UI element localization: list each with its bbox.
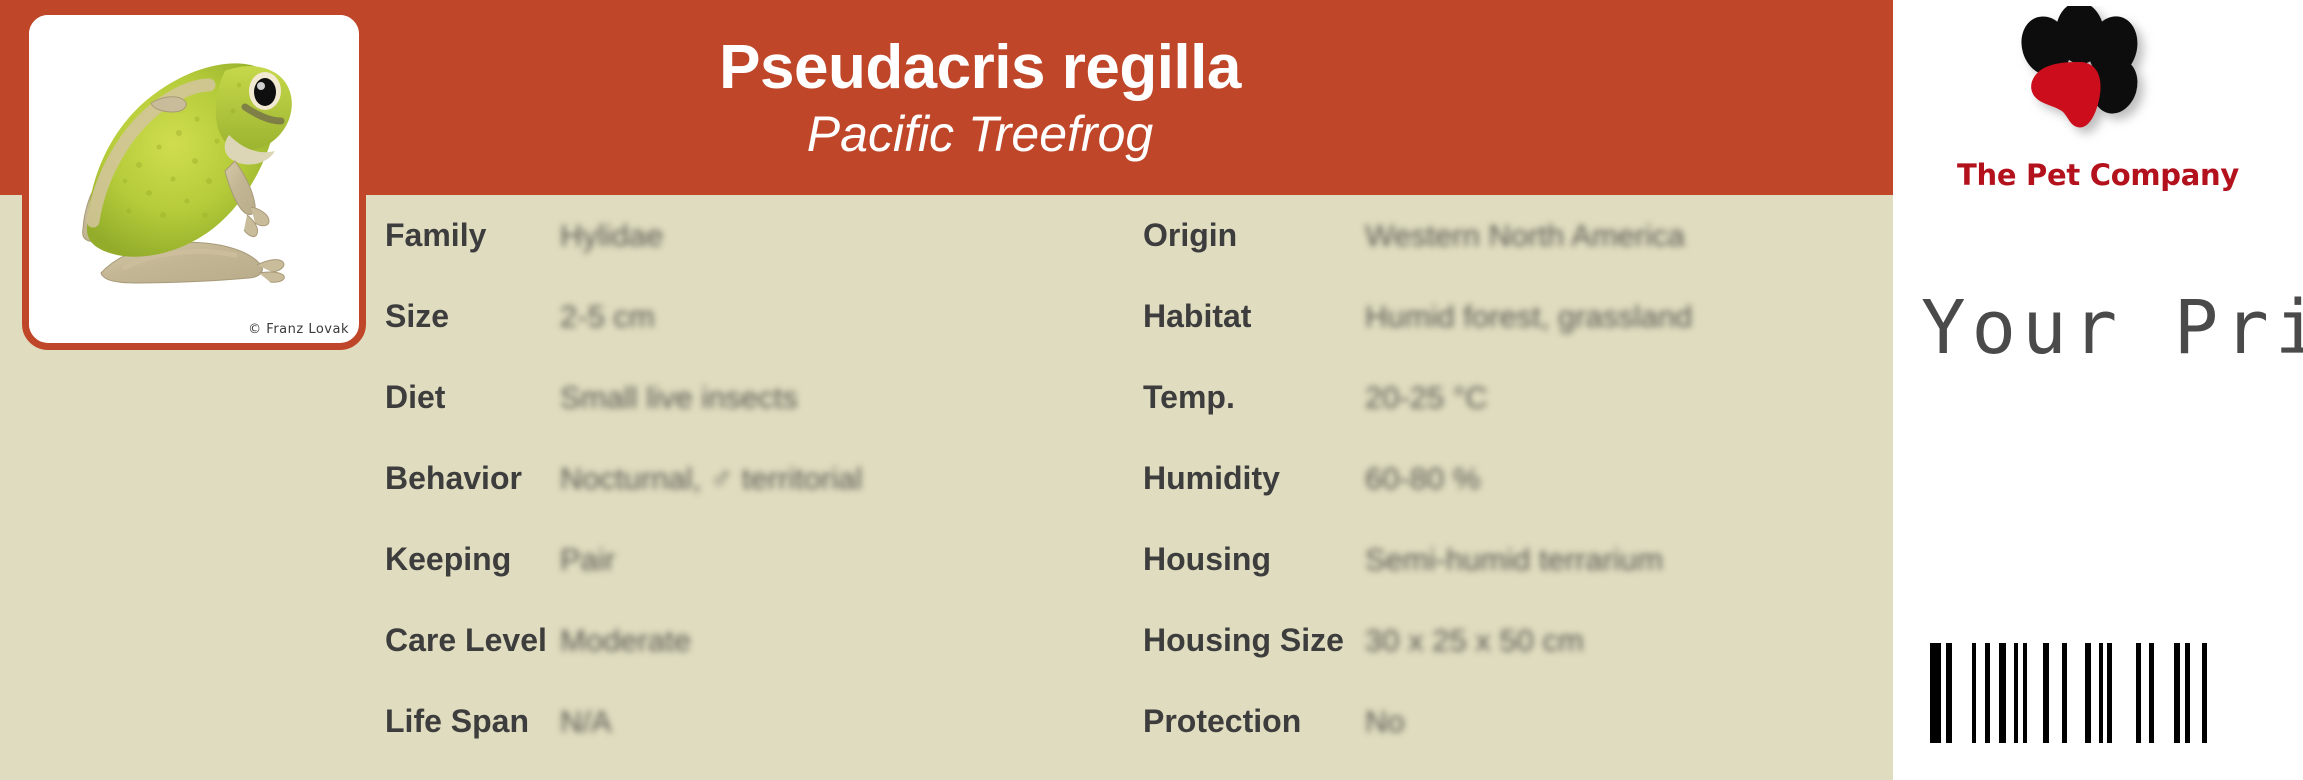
pet-shop-info-label: Pseudacris regilla Pacific Treefrog [0,0,2303,780]
spec-row: Care Level Moderate [385,600,1145,681]
spec-key: Habitat [1143,298,1365,335]
spec-row: Protection No [1143,681,1893,762]
spec-value: Semi-humid terrarium [1365,542,1663,578]
spec-key: Diet [385,379,560,416]
spec-value: N/A [560,704,612,740]
spec-key: Temp. [1143,379,1365,416]
brand-logo: The Pet Company [1893,6,2303,204]
spec-key: Life Span [385,703,560,740]
spec-column-right: Origin Western North America Habitat Hum… [1143,195,1893,780]
spec-value: Pair [560,542,615,578]
spec-value: 60-80 % [1365,461,1480,497]
spec-key: Size [385,298,560,335]
your-price-label: Your Price [1921,285,2303,371]
spec-row: Habitat Humid forest, grassland [1143,276,1893,357]
species-info-card: Pseudacris regilla Pacific Treefrog [0,0,1893,780]
spec-row: Origin Western North America [1143,195,1893,276]
spec-value: Humid forest, grassland [1365,299,1692,335]
spec-value: No [1365,704,1405,740]
spec-key: Keeping [385,541,560,578]
spec-value: Hylidae [560,218,663,254]
spec-table: Family Hylidae Size 2-5 cm Diet Small li… [0,195,1893,780]
spec-key: Family [385,217,560,254]
spec-row: Size 2-5 cm [385,276,1145,357]
spec-key: Origin [1143,217,1365,254]
spec-value: 20-25 °C [1365,380,1488,416]
spec-value: 2-5 cm [560,299,655,335]
spec-row: Behavior Nocturnal, ♂ territorial [385,438,1145,519]
price-panel: The Pet Company Your Price [1893,0,2303,780]
spec-key: Protection [1143,703,1365,740]
spec-value: Moderate [560,623,691,659]
spec-row: Diet Small live insects [385,357,1145,438]
paw-print-icon [1971,6,2225,166]
spec-key: Behavior [385,460,560,497]
spec-value: 30 x 25 x 50 cm [1365,623,1584,659]
spec-value: Western North America [1365,218,1685,254]
spec-value: Nocturnal, ♂ territorial [560,461,862,497]
spec-row: Temp. 20-25 °C [1143,357,1893,438]
spec-row: Family Hylidae [385,195,1145,276]
title-block: Pseudacris regilla Pacific Treefrog [360,6,1600,191]
spec-key: Care Level [385,622,560,659]
spec-column-left: Family Hylidae Size 2-5 cm Diet Small li… [385,195,1145,780]
brand-name: The Pet Company [1893,158,2303,192]
spec-row: Keeping Pair [385,519,1145,600]
scientific-name: Pseudacris regilla [719,35,1241,101]
spec-value: Small live insects [560,380,798,416]
spec-row: Life Span N/A [385,681,1145,762]
common-name: Pacific Treefrog [807,106,1153,162]
spec-row: Housing Semi-humid terrarium [1143,519,1893,600]
spec-key: Humidity [1143,460,1365,497]
spec-row: Humidity 60-80 % [1143,438,1893,519]
barcode [1930,643,2207,743]
spec-key: Housing [1143,541,1365,578]
spec-key: Housing Size [1143,622,1365,659]
spec-row: Housing Size 30 x 25 x 50 cm [1143,600,1893,681]
